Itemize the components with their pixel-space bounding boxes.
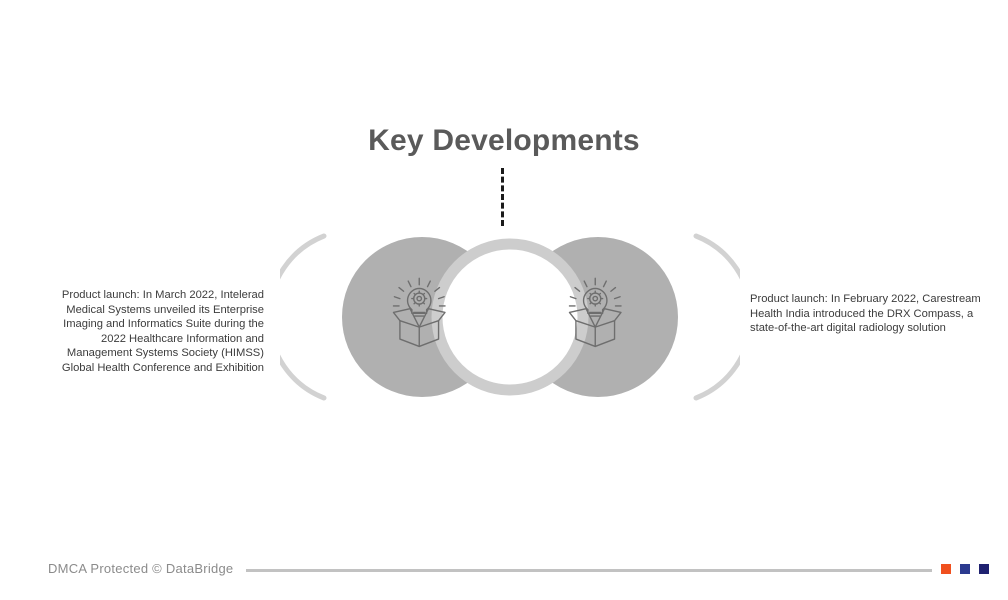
callout-text-right: Product launch: In February 2022, Carest… (750, 292, 994, 336)
swatch-navy (979, 564, 989, 574)
venn-diagram (280, 222, 740, 412)
page-title: Key Developments (0, 124, 1008, 158)
footer-swatch-group (941, 564, 989, 574)
slide-canvas: Key Developments (0, 0, 1008, 600)
dashed-connector-icon (501, 168, 504, 226)
footer-divider (246, 569, 932, 572)
callout-text-left: Product launch: In March 2022, Intelerad… (40, 288, 264, 376)
swatch-orange (941, 564, 951, 574)
center-circle (437, 244, 583, 390)
swatch-blue (960, 564, 970, 574)
footer-copyright: DMCA Protected © DataBridge (48, 561, 233, 576)
outer-arc-right (696, 236, 740, 398)
outer-arc-left (280, 236, 324, 398)
footer: DMCA Protected © DataBridge (0, 548, 1008, 600)
